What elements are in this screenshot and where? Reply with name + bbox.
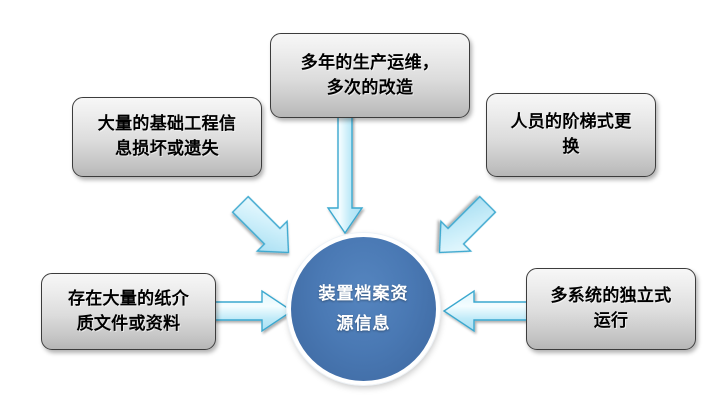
center-node-label: 装置档案资 源信息 xyxy=(319,279,409,339)
node-top[interactable]: 多年的生产运维， 多次的改造 xyxy=(270,33,470,118)
arrow-top xyxy=(325,113,365,235)
node-bottom-left-label: 存在大量的纸介 质文件或资料 xyxy=(68,287,189,336)
node-bottom-right[interactable]: 多系统的独立式 运行 xyxy=(526,268,696,350)
node-top-label: 多年的生产运维， 多次的改造 xyxy=(301,51,439,100)
center-node[interactable]: 装置档案资 源信息 xyxy=(287,233,440,385)
node-bottom-right-label: 多系统的独立式 运行 xyxy=(550,284,671,333)
node-top-right[interactable]: 人员的阶梯式更 换 xyxy=(486,93,656,177)
arrow-bottom-right xyxy=(440,287,536,335)
node-top-right-label: 人员的阶梯式更 换 xyxy=(510,110,631,159)
diagram-canvas: 装置档案资 源信息 多年的生产运维， 多次的改造 大量的基础工程信 息损坏或遗失… xyxy=(0,0,723,417)
node-top-left[interactable]: 大量的基础工程信 息损坏或遗失 xyxy=(72,97,262,177)
node-bottom-left[interactable]: 存在大量的纸介 质文件或资料 xyxy=(41,273,216,350)
node-top-left-label: 大量的基础工程信 息损坏或遗失 xyxy=(98,112,236,161)
